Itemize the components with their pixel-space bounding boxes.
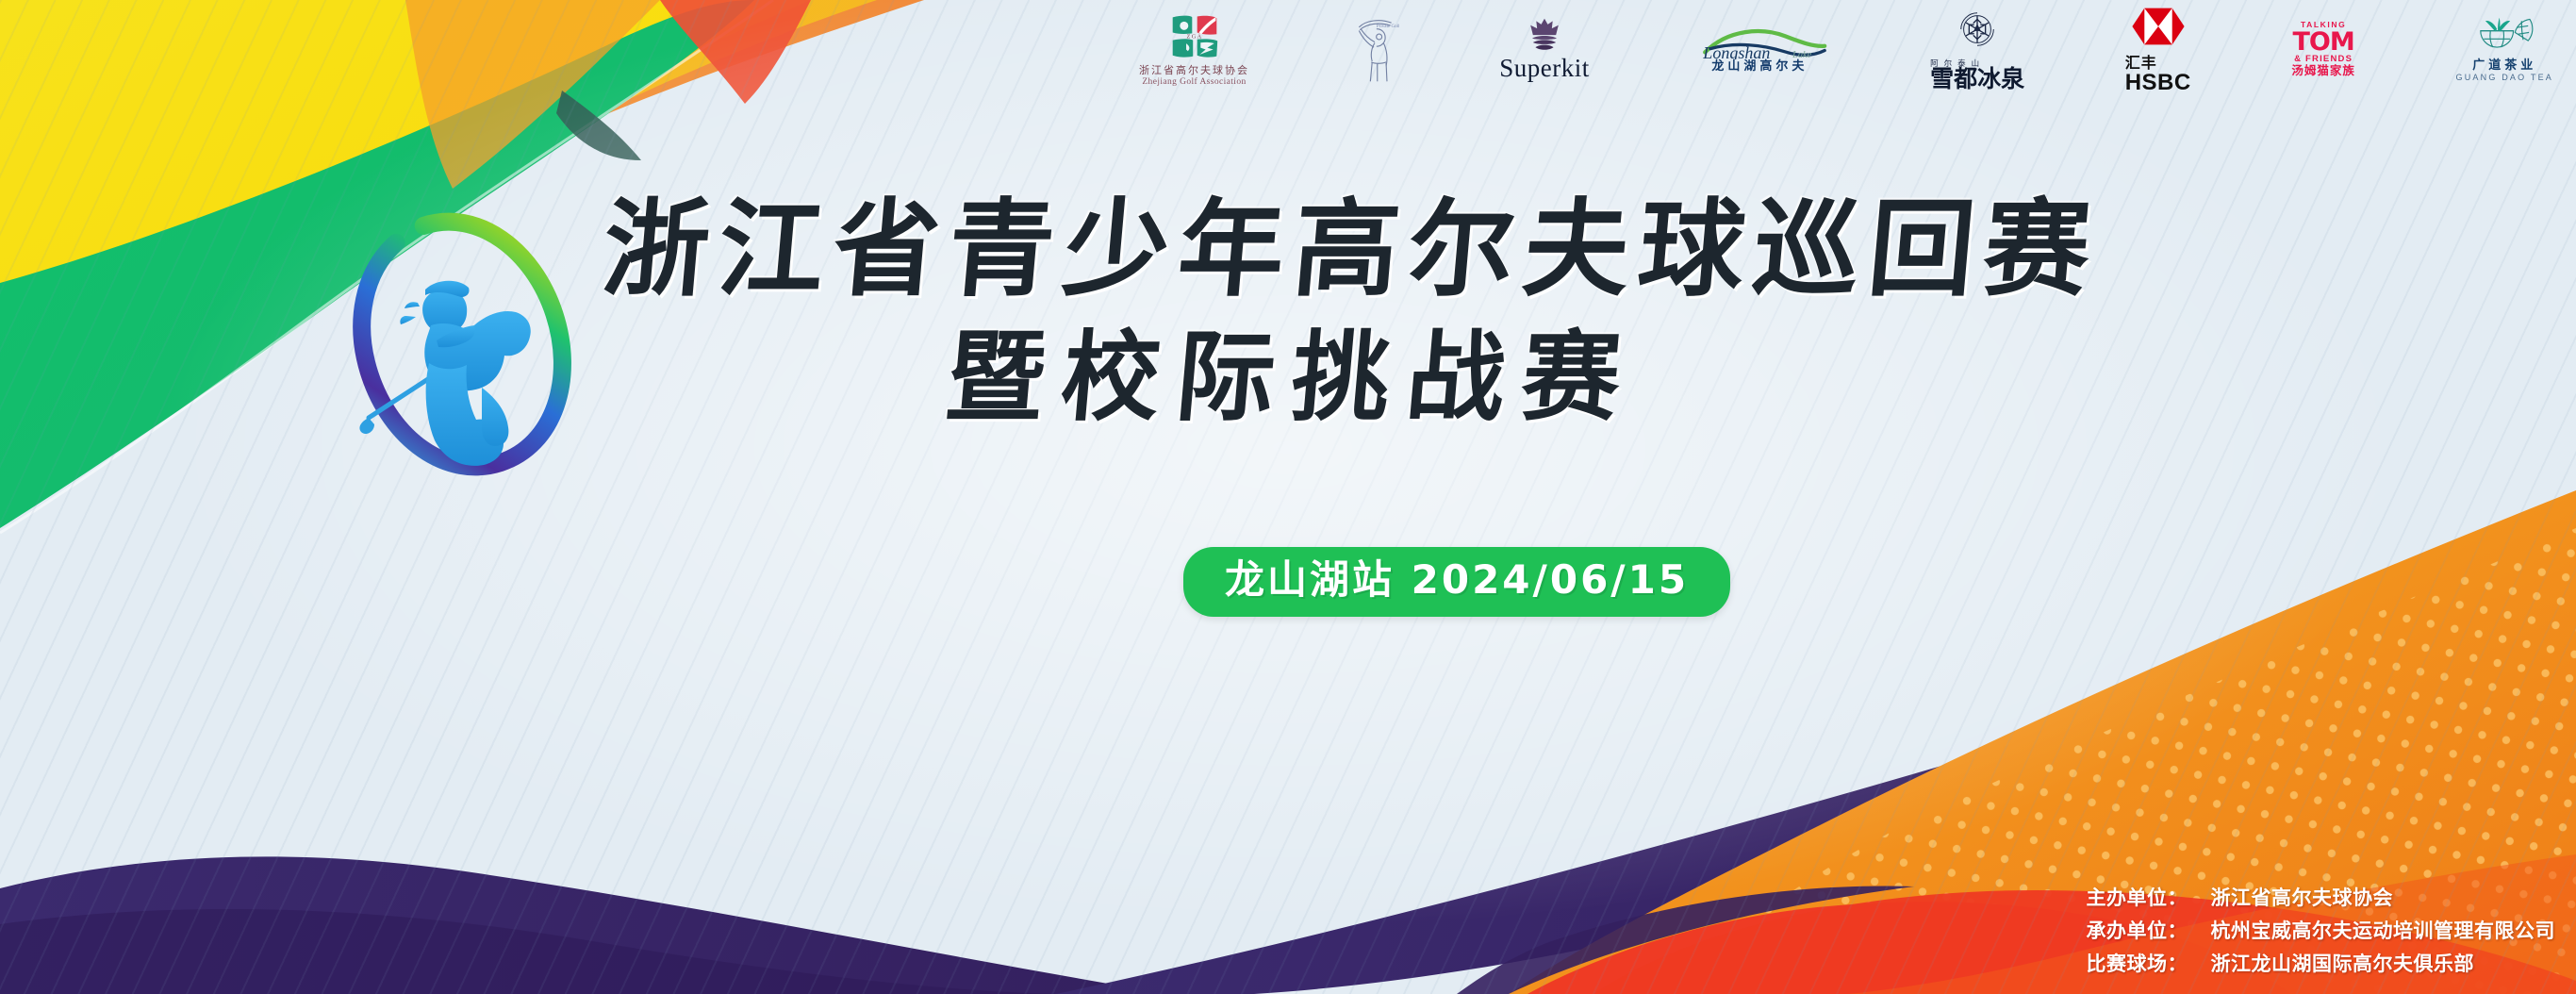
sponsor-logo-strip: ZGA 浙江省高尔夫球协会 Zhejiang Golf Association — [1122, 2, 2574, 96]
sponsor-name-en: Zhejiang Golf Association — [1142, 77, 1246, 87]
longshan-swish-icon: Longshan Lake — [1690, 25, 1829, 59]
credit-row-organizer: 主办单位： 浙江省高尔夫球协会 — [2087, 883, 2556, 911]
credits-block: 主办单位： 浙江省高尔夫球协会 承办单位： 杭州宝威高尔夫运动培训管理有限公司 … — [2087, 883, 2556, 977]
sponsor-logo-private-golf: Private Golf — [1350, 13, 1399, 85]
sponsor-logo-superkit: Superkit — [1499, 17, 1590, 81]
credit-label: 主办单位： — [2087, 883, 2211, 911]
title-block: 浙江省青少年高尔夫球巡回赛 暨校际挑战赛 — [603, 189, 1980, 439]
background-artwork — [0, 0, 2576, 994]
sponsor-name-en: HSBC — [2125, 72, 2191, 94]
hsbc-hexagon-icon — [2132, 5, 2185, 48]
sponsor-name-en: Superkit — [1499, 56, 1590, 81]
friends-label: & FRIENDS — [2294, 55, 2353, 64]
sponsor-name-cn: 汤姆猫家族 — [2291, 65, 2355, 77]
snowflake-circle-icon — [1955, 7, 2000, 52]
credit-label: 比赛球场： — [2087, 949, 2211, 977]
sponsor-logo-longshan-lake: Longshan Lake 龙山湖高尔夫 — [1690, 25, 1829, 74]
sponsor-logo-zhejiang-golf-association: ZGA 浙江省高尔夫球协会 Zhejiang Golf Association — [1139, 12, 1249, 87]
page-title-line2: 暨校际挑战赛 — [599, 321, 1986, 439]
sponsor-logo-talking-tom: TALKING TOM & FRIENDS 汤姆猫家族 — [2291, 21, 2355, 77]
zga-quadrant-mark: ZGA — [1169, 12, 1220, 61]
page-title-line1: 浙江省青少年高尔夫球巡回赛 — [598, 189, 1986, 313]
golfer-swing-emblem — [325, 203, 599, 486]
sponsor-name-cn: 雪都冰泉 — [1930, 67, 2024, 91]
event-date-badge: 龙山湖站 2024/06/15 — [1183, 547, 1730, 617]
credit-row-host: 承办单位： 杭州宝威高尔夫运动培训管理有限公司 — [2087, 916, 2556, 944]
sponsor-logo-guang-dao-tea: 广道茶业 GUANG DAO TEA — [2456, 16, 2553, 82]
credit-value: 浙江龙山湖国际高尔夫俱乐部 — [2211, 949, 2475, 977]
sponsor-logo-hsbc: 汇丰 HSBC — [2125, 5, 2191, 94]
credit-value: 杭州宝威高尔夫运动培训管理有限公司 — [2211, 916, 2556, 944]
svg-text:ZGA: ZGA — [1186, 33, 1202, 40]
svg-text:Private Golf: Private Golf — [1376, 23, 1398, 29]
emblem-graphic — [325, 203, 599, 486]
credit-value: 浙江省高尔夫球协会 — [2211, 883, 2394, 911]
crown-icon — [1525, 17, 1564, 55]
credit-label: 承办单位： — [2087, 916, 2211, 944]
sponsor-name-cn: 龙山湖高尔夫 — [1711, 56, 1808, 74]
event-date-badge-text: 龙山湖站 2024/06/15 — [1225, 556, 1689, 603]
sponsor-name-cn: 浙江省高尔夫球协会 — [1139, 62, 1249, 77]
tournament-banner: ZGA 浙江省高尔夫球协会 Zhejiang Golf Association — [0, 0, 2576, 994]
line-art-golfer-icon: Private Golf — [1350, 13, 1399, 85]
tea-leaf-globe-icon — [2475, 16, 2534, 54]
sponsor-name-cn: 广道茶业 — [2472, 55, 2536, 73]
credit-row-venue: 比赛球场： 浙江龙山湖国际高尔夫俱乐部 — [2087, 949, 2556, 977]
sponsor-logo-xuedu-bingquan: 阿尔泰山 雪都冰泉 — [1930, 7, 2024, 92]
sponsor-name-en: GUANG DAO TEA — [2456, 73, 2553, 82]
tom-wordmark: TOM — [2293, 29, 2354, 55]
